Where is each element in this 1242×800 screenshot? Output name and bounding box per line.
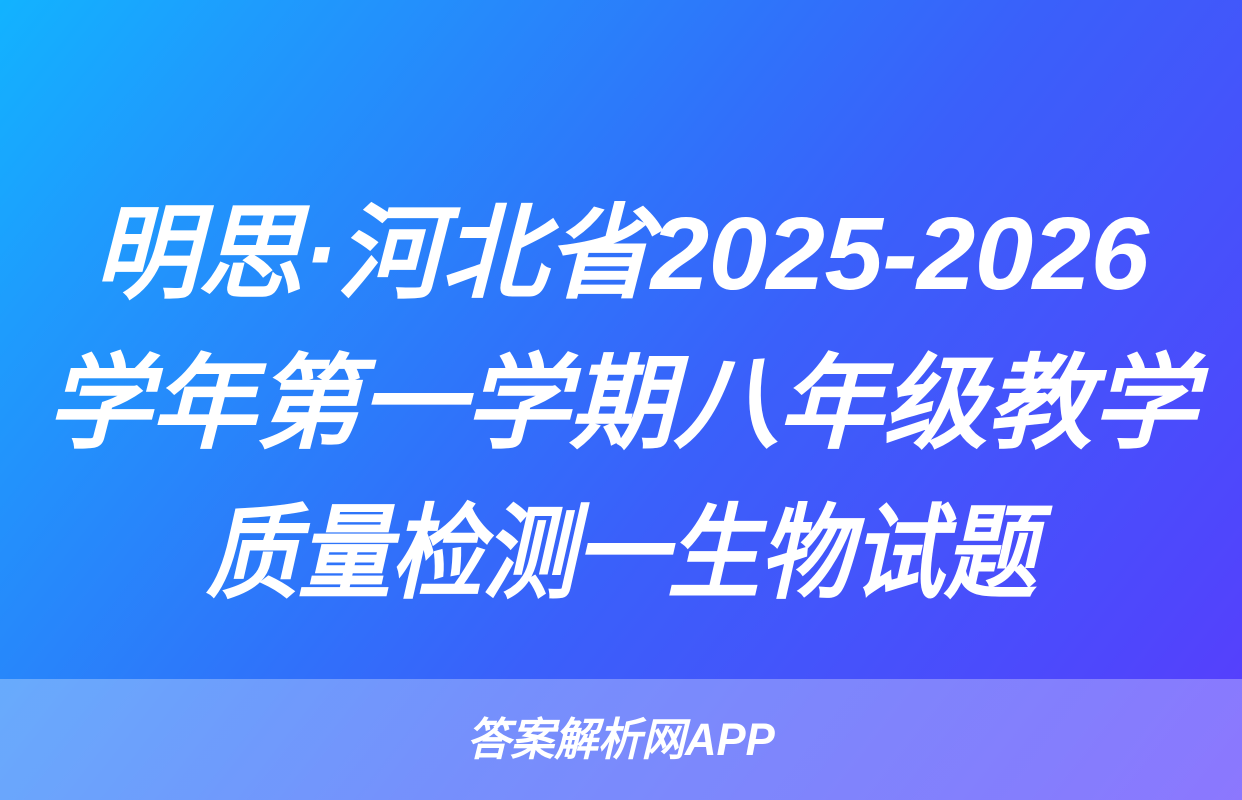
title-line-1: 明思·河北省2025-2026 — [77, 178, 1164, 328]
footer-watermark-band: 答案解析网APP — [0, 679, 1242, 800]
app-watermark-label: 答案解析网APP — [467, 717, 775, 762]
title-line-3: 质量检测一生物试题 — [141, 478, 1100, 628]
exam-cover-card: 明思·河北省2025-2026 学年第一学期八年级教学 质量检测一生物试题 答案… — [0, 0, 1242, 800]
title-block: 明思·河北省2025-2026 学年第一学期八年级教学 质量检测一生物试题 — [0, 178, 1242, 638]
title-line-2: 学年第一学期八年级教学 — [77, 328, 1164, 478]
